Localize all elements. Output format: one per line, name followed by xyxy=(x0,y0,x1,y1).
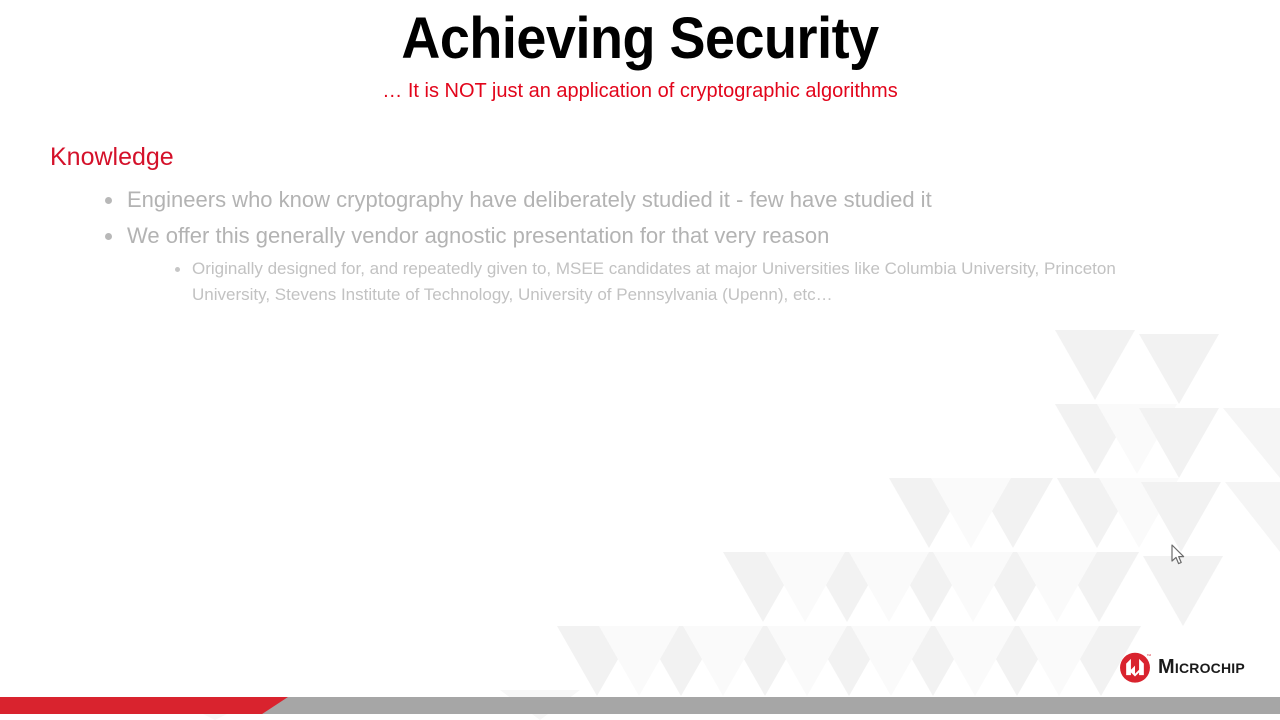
list-item: Engineers who know cryptography have del… xyxy=(105,182,1230,218)
bullet-point-icon xyxy=(175,267,180,272)
list-item: We offer this generally vendor agnostic … xyxy=(105,218,1230,308)
bullet-list-level-1: Engineers who know cryptography have del… xyxy=(50,182,1230,308)
bullet-point-icon xyxy=(105,197,112,204)
page-title: Achieving Security xyxy=(45,8,1235,71)
bullet-text: Engineers who know cryptography have del… xyxy=(127,187,932,212)
microchip-logo: ™ Microchip xyxy=(1118,648,1270,686)
footer-bar xyxy=(0,697,1280,715)
trademark-mark: ™ xyxy=(1147,653,1152,659)
slide-subtitle: … It is NOT just an application of crypt… xyxy=(0,79,1280,103)
title-block: Achieving Security … It is NOT just an a… xyxy=(0,8,1280,103)
microchip-logo-mark: ™ xyxy=(1118,650,1152,684)
mouse-pointer-icon xyxy=(1170,544,1186,566)
bullet-list-level-2: Originally designed for, and repeatedly … xyxy=(127,256,1230,308)
logo-wordmark: Microchip xyxy=(1158,657,1245,677)
bullet-text: Originally designed for, and repeatedly … xyxy=(192,259,1116,304)
slide-body: Knowledge Engineers who know cryptograph… xyxy=(50,142,1230,308)
bullet-point-icon xyxy=(105,233,112,240)
section-heading: Knowledge xyxy=(50,142,1230,172)
bullet-text: We offer this generally vendor agnostic … xyxy=(127,223,829,248)
footer-bar-red-segment xyxy=(0,697,288,714)
presentation-slide: Achieving Security … It is NOT just an a… xyxy=(0,0,1280,720)
list-item: Originally designed for, and repeatedly … xyxy=(175,256,1167,308)
triangle-watermark-pattern xyxy=(0,0,1280,720)
